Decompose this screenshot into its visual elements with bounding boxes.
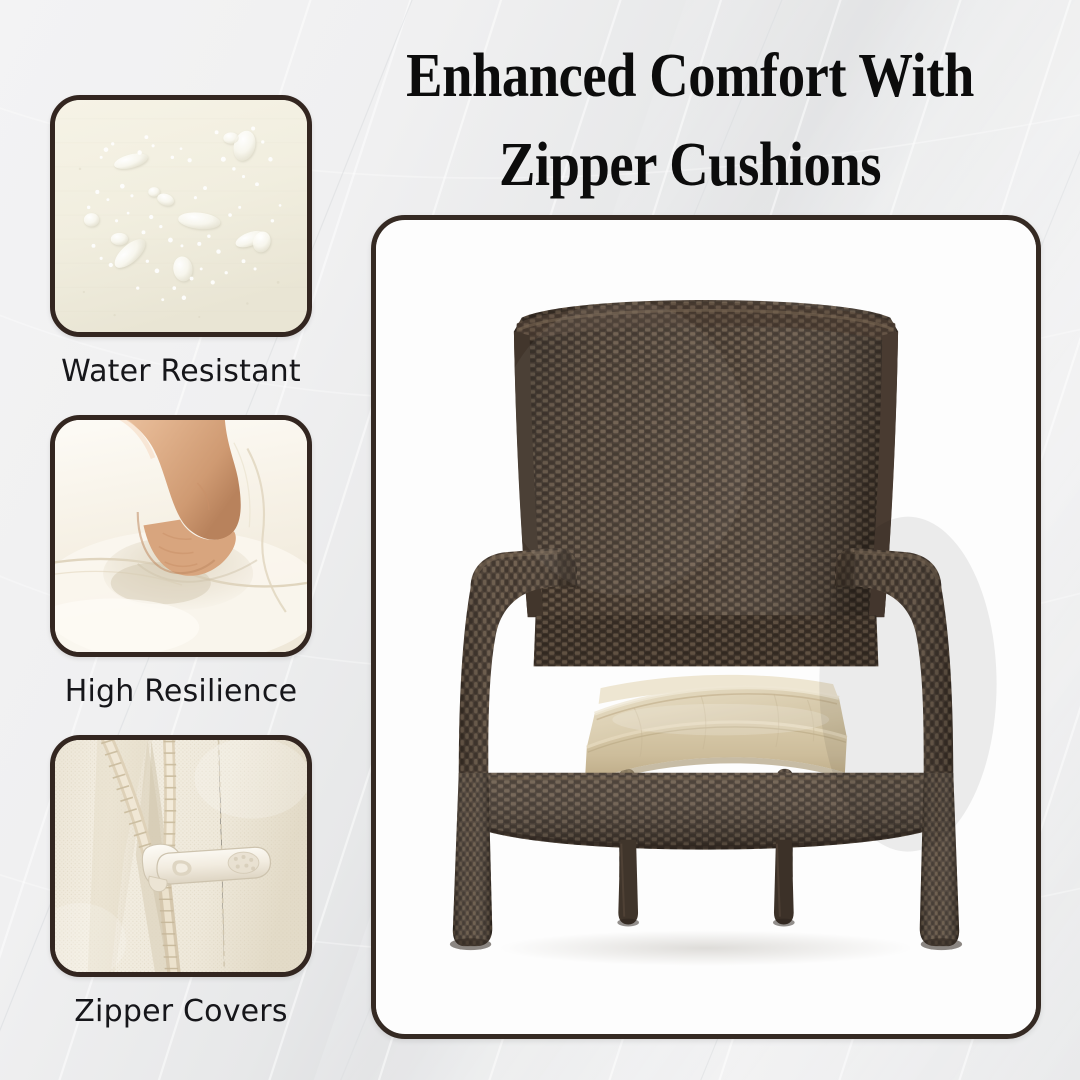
hand-pressing-cushion-photo xyxy=(55,420,307,652)
product-image-panel xyxy=(371,215,1041,1039)
feature-label-zipper-covers: Zipper Covers xyxy=(50,994,312,1029)
zipper-closeup-photo xyxy=(55,740,307,972)
feature-label-high-resilience: High Resilience xyxy=(50,674,312,709)
feature-item-water-resistant: Water Resistant xyxy=(50,95,312,389)
zipper-closeup-thumbnail xyxy=(50,735,312,977)
feature-item-high-resilience: High Resilience xyxy=(50,415,312,709)
title-line-2: Zipper Cushions xyxy=(364,121,1015,210)
hand-pressing-cushion-thumbnail xyxy=(50,415,312,657)
wicker-dining-chair-with-cushion-photo xyxy=(376,220,1036,1034)
title-line-1: Enhanced Comfort With xyxy=(406,42,974,110)
feature-item-zipper-covers: Zipper Covers xyxy=(50,735,312,1029)
feature-label-water-resistant: Water Resistant xyxy=(50,354,312,389)
page-title: Enhanced Comfort With Zipper Cushions xyxy=(364,32,1015,211)
feature-list: Water Resistant xyxy=(0,0,360,1080)
water-droplets-on-fabric-photo xyxy=(55,100,307,332)
water-droplets-thumbnail xyxy=(50,95,312,337)
